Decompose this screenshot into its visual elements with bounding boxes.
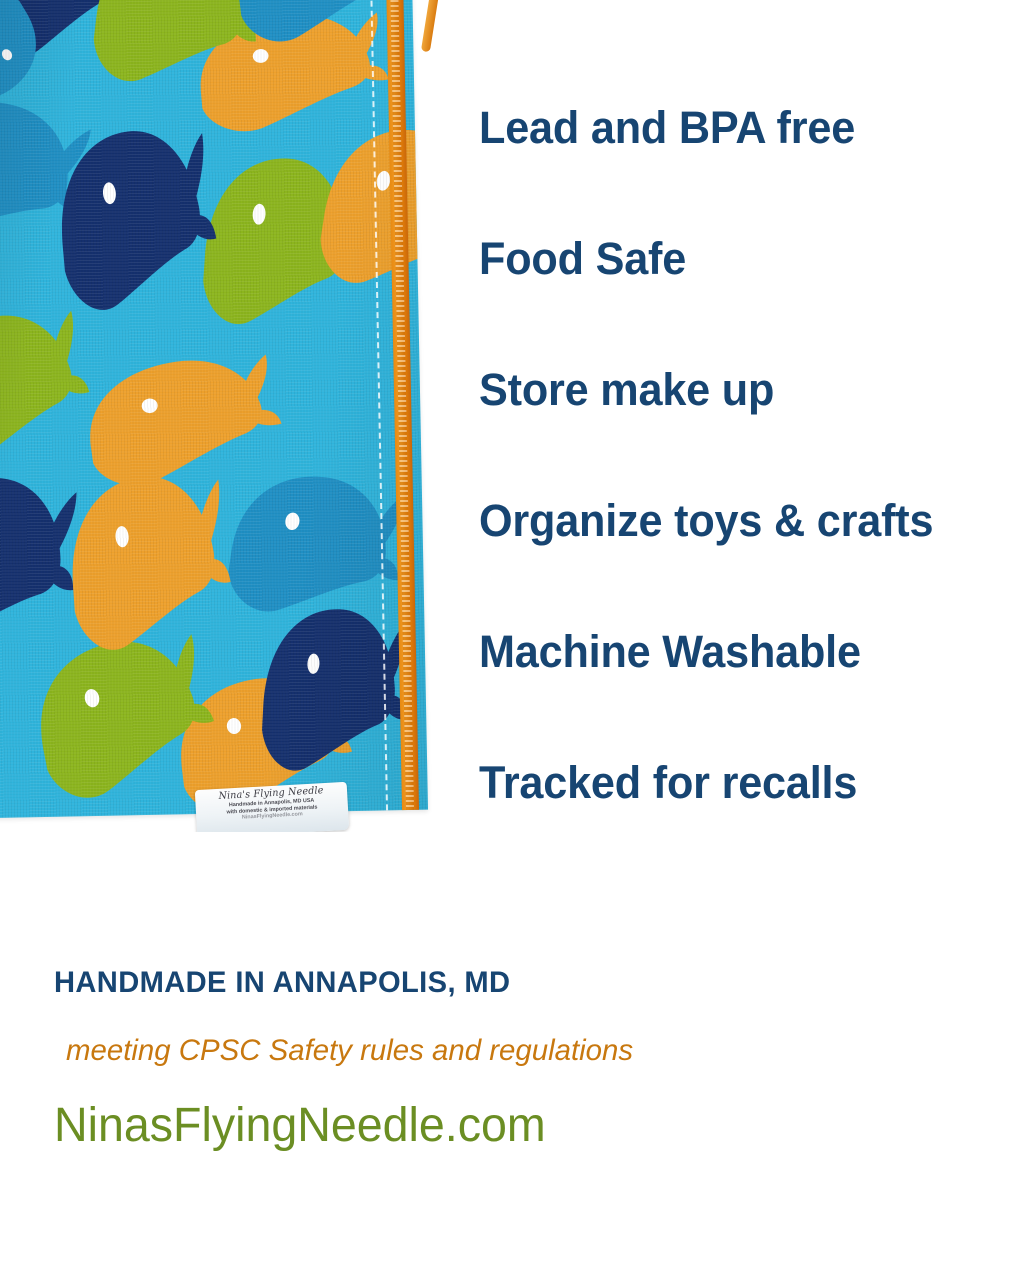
website-line[interactable]: NinasFlyingNeedle.com [54, 1098, 546, 1153]
zipper-pull-tab[interactable] [421, 0, 440, 52]
feature-list: Lead and BPA free Food Safe Store make u… [479, 62, 999, 848]
whale-motif [253, 598, 412, 795]
feature-item: Tracked for recalls [479, 717, 978, 848]
feature-item: Store make up [479, 324, 978, 455]
whale-motif [58, 463, 236, 672]
cpsc-compliance-line: meeting CPSC Safety rules and regulation… [66, 1034, 633, 1068]
feature-item: Organize toys & crafts [479, 455, 978, 586]
feature-item: Lead and BPA free [479, 62, 978, 193]
marketing-image: Nina's Flying Needle Handmade in Annapol… [0, 0, 1024, 1280]
feature-item: Machine Washable [479, 586, 978, 717]
whale-motif [305, 110, 428, 319]
care-label: Nina's Flying Needle Handmade in Annapol… [195, 782, 349, 832]
feature-item: Food Safe [479, 193, 978, 324]
whale-print-fabric-panel [0, 0, 428, 818]
product-photo: Nina's Flying Needle Handmade in Annapol… [0, 0, 452, 832]
handmade-location-line: HANDMADE IN ANNAPOLIS, MD [54, 966, 510, 1000]
